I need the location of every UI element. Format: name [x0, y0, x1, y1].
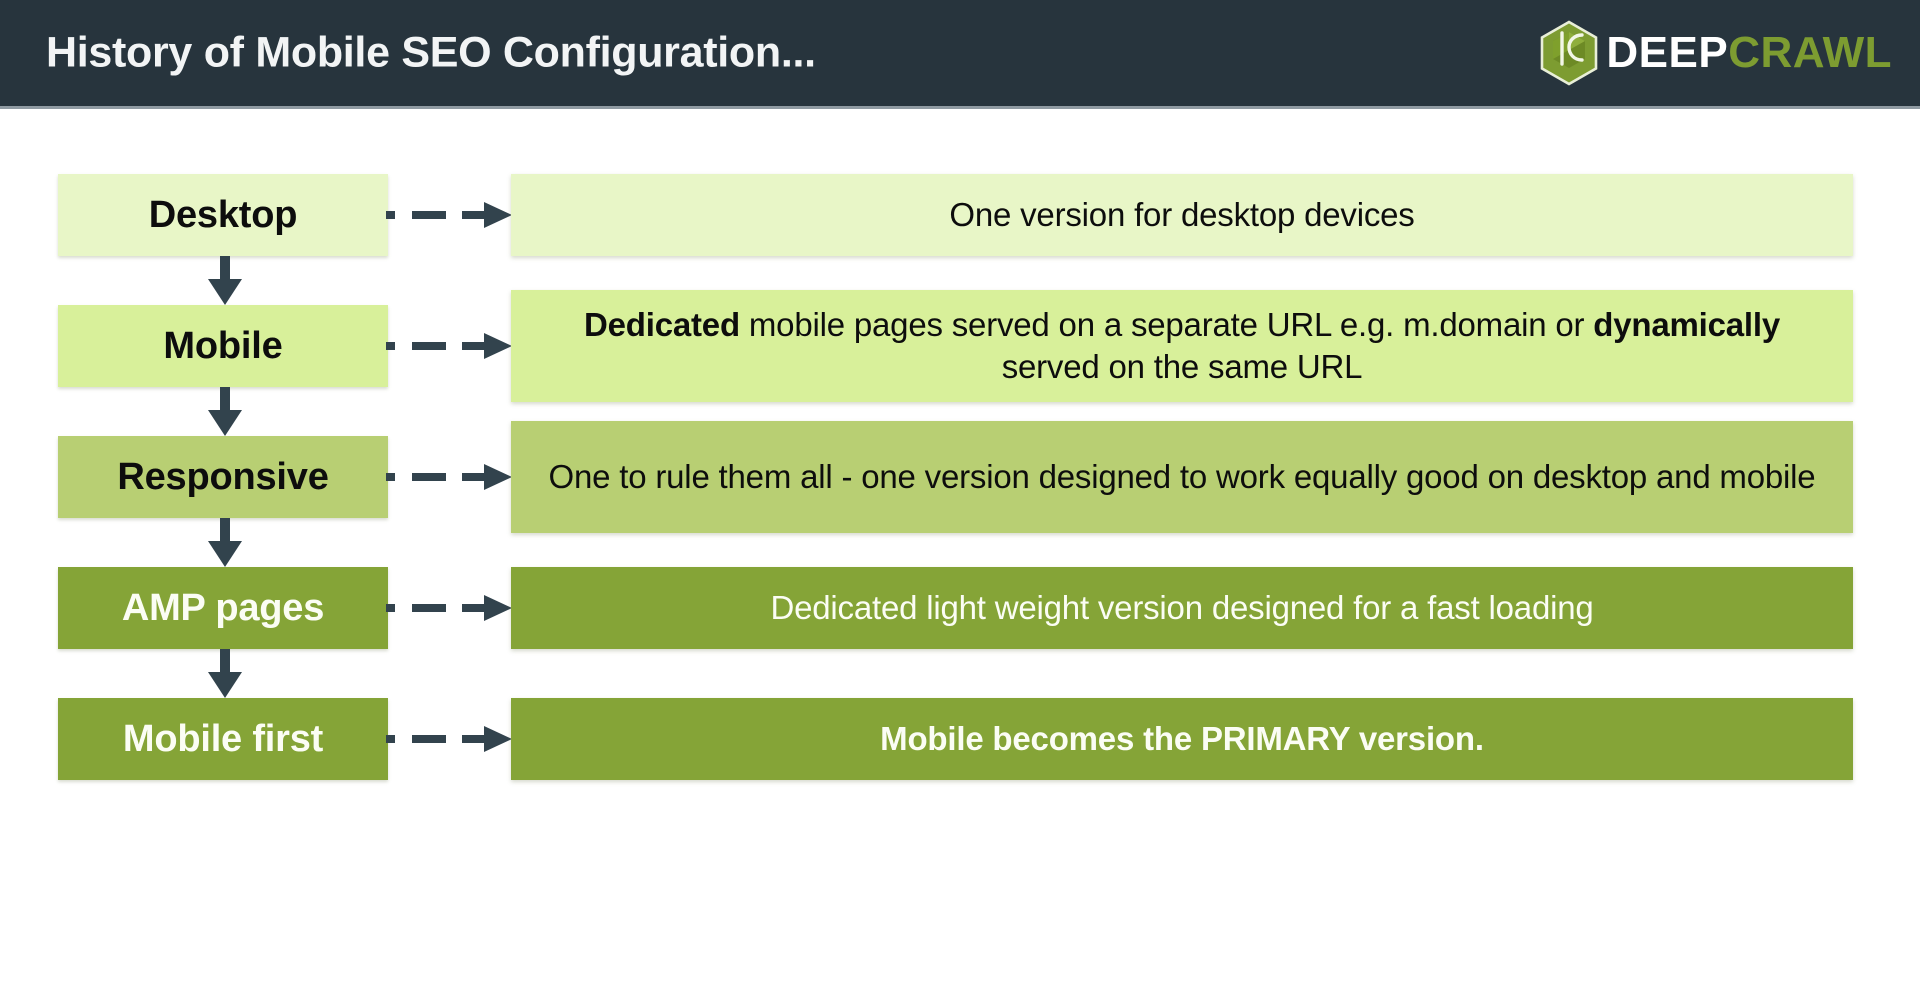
dash-dot-arrow-right-icon — [386, 198, 514, 232]
dash-dot-arrow-right-icon — [386, 722, 514, 756]
mobile-seo-history-flow: Desktop One version for desktop devices … — [0, 109, 1920, 1005]
page-title: History of Mobile SEO Configuration... — [46, 29, 816, 78]
flow-arrow-0 — [200, 256, 250, 305]
stage-label-responsive[interactable]: Responsive — [58, 436, 388, 518]
stage-connector-0 — [386, 198, 514, 232]
stage-label-mobile-first[interactable]: Mobile first — [58, 698, 388, 780]
stage-description-text: Mobile becomes the PRIMARY version. — [880, 718, 1484, 760]
stage-description-2: One to rule them all - one version desig… — [511, 421, 1853, 533]
arrow-down-icon — [200, 256, 250, 305]
dash-dot-arrow-right-icon — [386, 591, 514, 625]
stage-connector-3 — [386, 591, 514, 625]
stage-description-text: Dedicated mobile pages served on a separ… — [537, 304, 1827, 387]
stage-description-text: One version for desktop devices — [949, 194, 1414, 236]
deepcrawl-hexagon-cube-icon — [1538, 20, 1600, 86]
stage-description-1: Dedicated mobile pages served on a separ… — [511, 290, 1853, 402]
stage-description-text: One to rule them all - one version desig… — [549, 456, 1816, 498]
arrow-down-icon — [200, 649, 250, 698]
flow-arrow-2 — [200, 518, 250, 567]
flow-arrow-1 — [200, 387, 250, 436]
stage-connector-2 — [386, 460, 514, 494]
stage-label-amp-pages[interactable]: AMP pages — [58, 567, 388, 649]
slide-header: History of Mobile SEO Configuration... D… — [0, 0, 1920, 109]
slide-canvas: History of Mobile SEO Configuration... D… — [0, 0, 1920, 1005]
deepcrawl-logo: DEEPCRAWL — [1538, 20, 1892, 86]
stage-label-desktop[interactable]: Desktop — [58, 174, 388, 256]
stage-label-mobile[interactable]: Mobile — [58, 305, 388, 387]
logo-word-crawl: CRAWL — [1728, 28, 1892, 77]
stage-connector-4 — [386, 722, 514, 756]
stage-connector-1 — [386, 329, 514, 363]
logo-wordmark: DEEPCRAWL — [1606, 31, 1892, 75]
stage-description-text: Dedicated light weight version designed … — [770, 587, 1593, 629]
stage-description-0: One version for desktop devices — [511, 174, 1853, 256]
dash-dot-arrow-right-icon — [386, 460, 514, 494]
arrow-down-icon — [200, 518, 250, 567]
stage-description-3: Dedicated light weight version designed … — [511, 567, 1853, 649]
dash-dot-arrow-right-icon — [386, 329, 514, 363]
flow-arrow-3 — [200, 649, 250, 698]
arrow-down-icon — [200, 387, 250, 436]
stage-description-4: Mobile becomes the PRIMARY version. — [511, 698, 1853, 780]
logo-word-deep: DEEP — [1606, 28, 1728, 77]
